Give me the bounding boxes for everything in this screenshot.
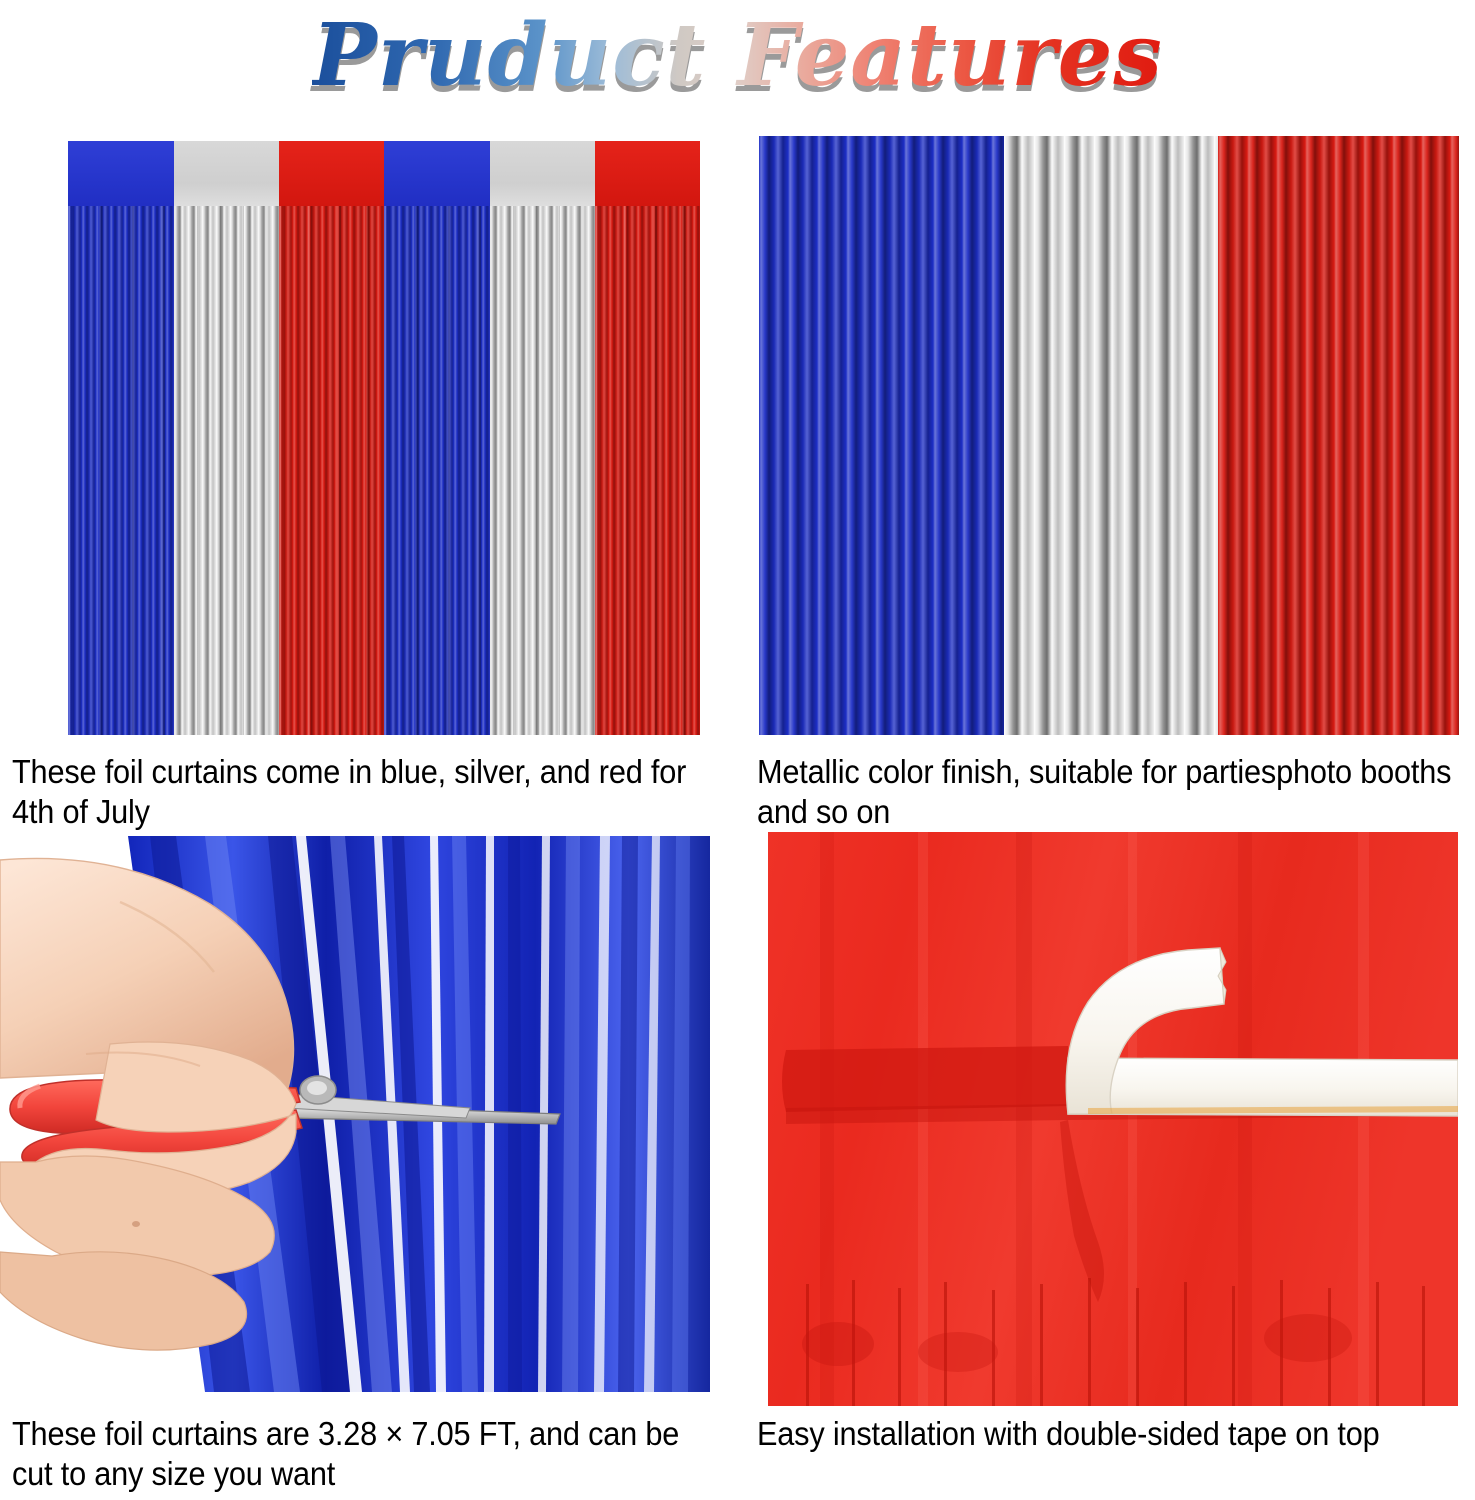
scissors-cutting-blue-foil-photo [0, 832, 710, 1392]
curtain-panel-silver [1004, 136, 1218, 735]
feature-card-size: These foil curtains are 3.28 × 7.05 FT, … [0, 832, 737, 1500]
feature-card-tape: Easy installation with double-sided tape… [737, 832, 1475, 1500]
panel-fringe [174, 206, 279, 735]
curtain-panel-blue-2 [384, 141, 490, 735]
curtain-panel-silver-1 [174, 141, 279, 735]
curtain-panel-blue [759, 136, 1004, 735]
feature-card-colors: These foil curtains come in blue, silver… [0, 112, 737, 832]
curtain-panel-red-2 [595, 141, 700, 735]
foil-curtain-six-panel-photo [68, 141, 700, 735]
panel-fringe [279, 206, 384, 735]
feature-caption-size: These foil curtains are 3.28 × 7.05 FT, … [12, 1414, 719, 1495]
foil-curtain-graphic [68, 141, 700, 735]
foil-curtain-graphic [759, 136, 1459, 735]
feature-caption-metallic: Metallic color finish, suitable for part… [757, 752, 1473, 833]
panel-fringe [759, 136, 1004, 735]
red-foil-double-sided-tape-photo [768, 832, 1458, 1406]
scissors-cut-illustration [0, 832, 710, 1392]
page-title-text: Pruduct Features [312, 5, 1163, 106]
curtain-panel-red [1218, 136, 1460, 735]
panel-fringe [1004, 136, 1218, 735]
scissors-pivot [300, 1076, 336, 1104]
tape-peel-illustration [768, 832, 1458, 1406]
panel-fringe [595, 206, 700, 735]
feature-caption-colors: These foil curtains come in blue, silver… [12, 752, 719, 833]
tape-backing-strip [782, 1046, 1068, 1112]
feature-caption-tape: Easy installation with double-sided tape… [757, 1414, 1475, 1454]
curtain-panel-silver-2 [490, 141, 595, 735]
feature-card-metallic: Metallic color finish, suitable for part… [737, 112, 1475, 832]
panel-fringe [384, 206, 490, 735]
page-header: Pruduct Features Pruduct Features [0, 0, 1475, 112]
page-title: Pruduct Features Pruduct Features [306, 13, 1169, 99]
curtain-panel-red-1 [279, 141, 384, 735]
panel-fringe [1218, 136, 1460, 735]
curtain-panel-blue-1 [68, 141, 174, 735]
panel-fringe [68, 206, 174, 735]
foil-curtain-closeup-photo [759, 136, 1459, 735]
panel-fringe [490, 206, 595, 735]
